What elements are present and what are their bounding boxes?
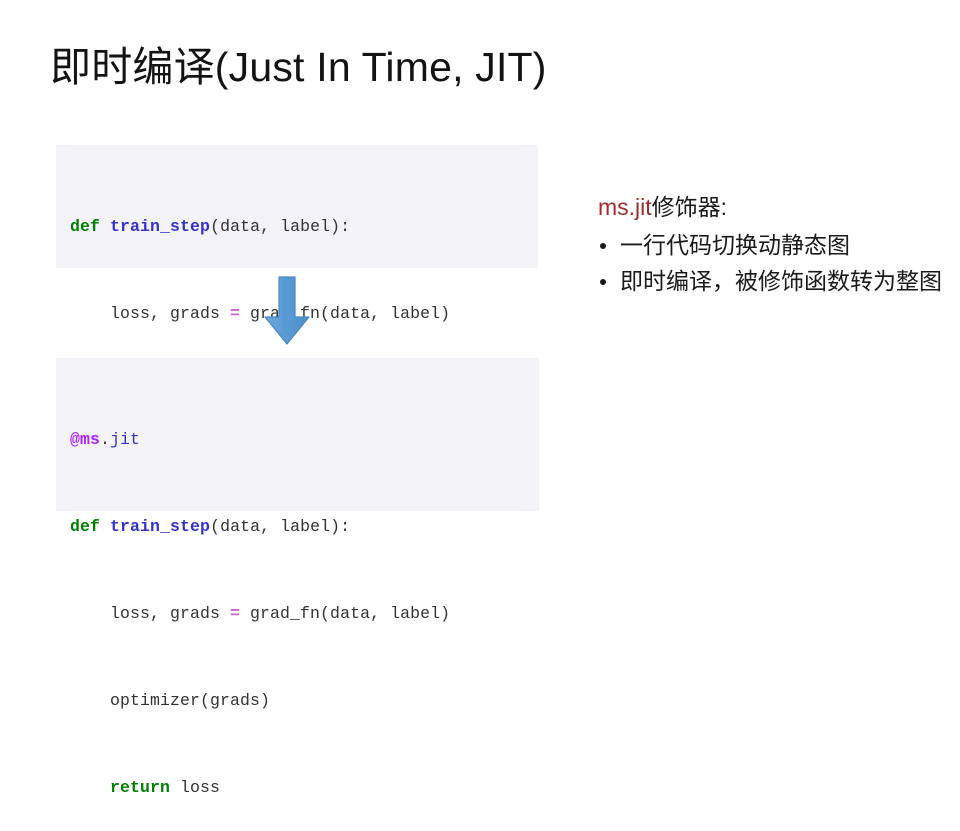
list-item-label: 一行代码切换动静态图: [620, 229, 948, 262]
list-item: 即时编译，被修饰函数转为整图: [598, 265, 948, 298]
code-token-keyword: def: [70, 217, 100, 236]
code-block-after: @ms.jit def train_step(data, label): los…: [56, 358, 539, 511]
code-token-decorator-attr: jit: [110, 430, 140, 449]
code-token-plain: loss, grads: [70, 304, 230, 323]
code-line: return loss: [70, 773, 539, 802]
code-token-plain: (data, label):: [210, 517, 350, 536]
code-token-dot: .: [100, 430, 110, 449]
code-token-indent: [70, 778, 110, 797]
notes-heading-accent: ms.jit: [598, 194, 652, 220]
notes-panel: ms.jit修饰器: 一行代码切换动静态图 即时编译，被修饰函数转为整图: [598, 190, 948, 301]
code-token-plain: (data, label):: [210, 217, 350, 236]
code-line: optimizer(grads): [70, 686, 539, 715]
code-line: def train_step(data, label):: [70, 512, 539, 541]
code-token-space: [100, 517, 110, 536]
code-token-keyword: def: [70, 517, 100, 536]
arrow-down-icon: [262, 276, 312, 346]
bullet-icon: [600, 243, 606, 249]
list-item: 一行代码切换动静态图: [598, 229, 948, 262]
list-item-label: 即时编译，被修饰函数转为整图: [620, 265, 948, 298]
code-token-plain: loss: [170, 778, 220, 797]
code-token-operator: =: [230, 304, 240, 323]
code-token-function: train_step: [110, 517, 210, 536]
notes-heading: ms.jit修饰器:: [598, 190, 948, 224]
code-block-before: def train_step(data, label): loss, grads…: [56, 145, 538, 268]
code-token-operator: =: [230, 604, 240, 623]
code-token-keyword: return: [110, 778, 170, 797]
code-token-plain: grad_fn(data, label): [240, 604, 450, 623]
code-token-function: train_step: [110, 217, 210, 236]
bullet-icon: [600, 279, 606, 285]
notes-heading-rest: 修饰器:: [652, 194, 727, 220]
code-token-space: [100, 217, 110, 236]
code-token-plain: loss, grads: [70, 604, 230, 623]
page-title: 即时编译(Just In Time, JIT): [50, 42, 547, 92]
code-line-decorator: @ms.jit: [70, 425, 539, 454]
code-line: def train_step(data, label):: [70, 212, 538, 241]
code-token-decorator: @ms: [70, 430, 100, 449]
code-line: loss, grads = grad_fn(data, label): [70, 599, 539, 628]
code-token-plain: optimizer(grads): [70, 691, 270, 710]
